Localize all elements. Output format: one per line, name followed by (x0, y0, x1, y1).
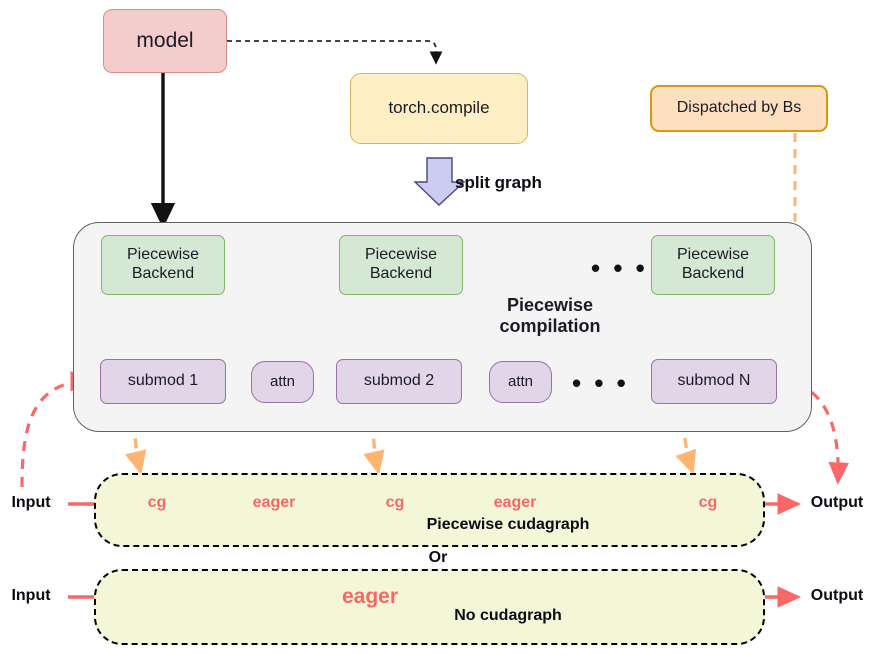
attn-block-1[interactable]: attn (251, 361, 314, 403)
lane1-step-cg-1: cg (134, 494, 180, 512)
torch-compile-label: torch.compile (388, 98, 489, 118)
split-graph-label: split graph (455, 173, 542, 193)
submod-1-label: submod 1 (128, 372, 198, 391)
submod-2-label: submod 2 (364, 372, 434, 391)
submod-n-label: submod N (678, 372, 751, 391)
backend-2-line1: Piecewise (365, 246, 437, 265)
lane1-step-cg-3: cg (688, 494, 728, 512)
submod-n[interactable]: submod N (651, 359, 777, 404)
model-node-label: model (136, 29, 193, 54)
no-cudagraph-caption: No cudagraph (398, 607, 618, 625)
piecewise-cudagraph-lane (94, 473, 765, 547)
piecewise-backend-2[interactable]: Piecewise Backend (339, 235, 463, 295)
attn-block-2[interactable]: attn (489, 361, 552, 403)
submod-2[interactable]: submod 2 (336, 359, 462, 404)
backend-2-line2: Backend (370, 265, 432, 284)
edge-model-to-compile (227, 41, 436, 63)
piecewise-backend-3[interactable]: Piecewise Backend (651, 235, 775, 295)
backend-3-line1: Piecewise (677, 246, 749, 265)
ellipsis-submod-row: • • • (572, 370, 629, 396)
lane1-step-eager-1: eager (236, 494, 312, 512)
backend-3-line2: Backend (682, 265, 744, 284)
output-label-lane1: Output (800, 494, 874, 512)
piecewise-caption-line2: compilation (499, 316, 600, 337)
diagram-canvas: model torch.compile Dispatched by Bs spl… (0, 0, 874, 663)
output-label-lane2: Output (800, 587, 874, 605)
or-label: Or (398, 549, 478, 567)
input-label-lane1: Input (0, 494, 62, 512)
ellipsis-backend-row: • • • (591, 255, 648, 281)
lane2-step-eager: eager (330, 585, 410, 609)
dispatched-by-bs-node[interactable]: Dispatched by Bs (650, 85, 828, 132)
torch-compile-node[interactable]: torch.compile (350, 73, 528, 144)
submod-1[interactable]: submod 1 (100, 359, 226, 404)
lane1-step-eager-2: eager (474, 494, 556, 512)
dispatched-by-bs-label: Dispatched by Bs (677, 99, 802, 118)
attn-2-label: attn (508, 373, 533, 391)
piecewise-caption-line1: Piecewise (507, 295, 593, 316)
piecewise-backend-1[interactable]: Piecewise Backend (101, 235, 225, 295)
backend-1-line2: Backend (132, 265, 194, 284)
input-label-lane2: Input (0, 587, 62, 605)
piecewise-cudagraph-caption: Piecewise cudagraph (398, 516, 618, 534)
attn-1-label: attn (270, 373, 295, 391)
backend-1-line1: Piecewise (127, 246, 199, 265)
lane1-step-cg-2: cg (372, 494, 418, 512)
model-node[interactable]: model (103, 9, 227, 73)
piecewise-compilation-caption: Piecewise compilation (470, 290, 630, 342)
